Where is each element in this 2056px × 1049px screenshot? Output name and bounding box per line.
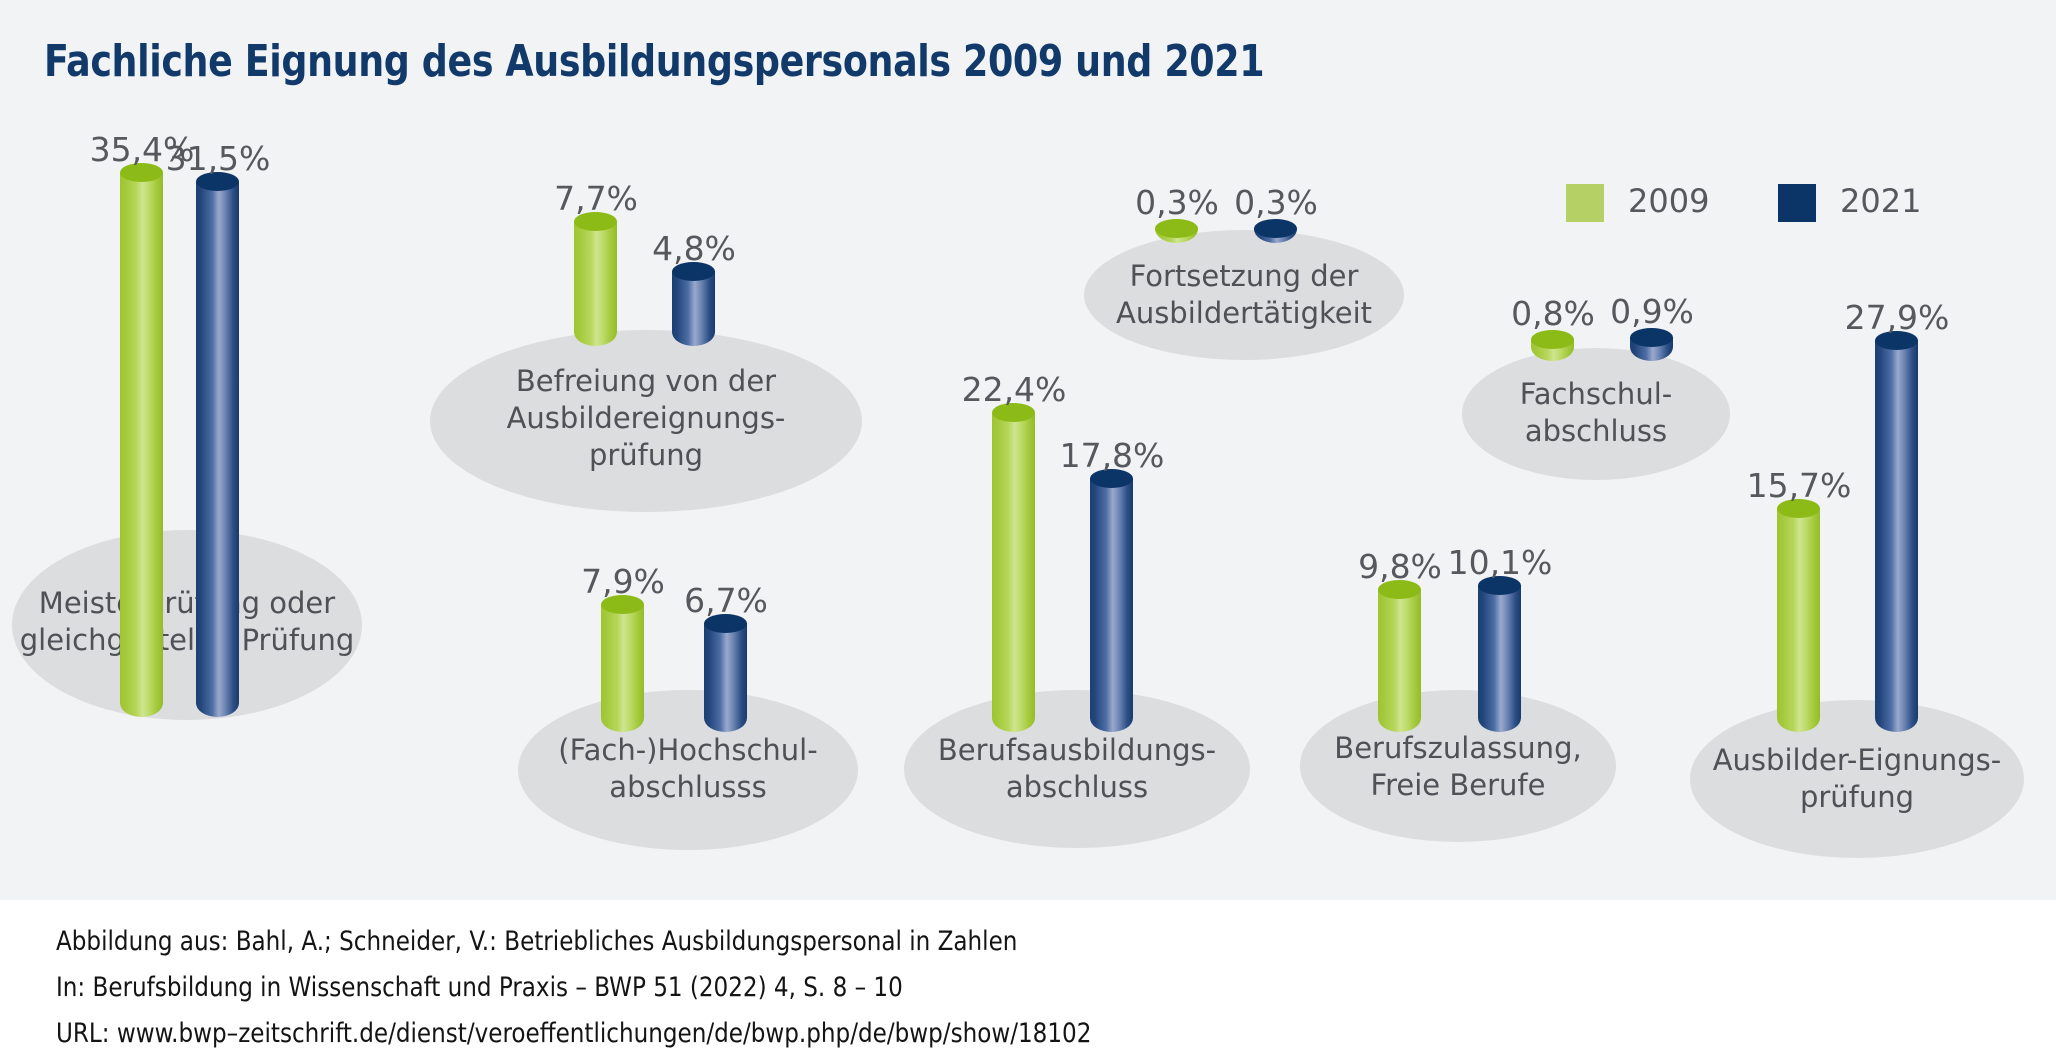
group-label: (Fach-)Hochschul- abschlusss	[518, 732, 858, 806]
bar-fachschul-2009[interactable]	[1531, 339, 1574, 361]
bar-fortsetzung-2009[interactable]	[1155, 228, 1198, 243]
bar-body	[1378, 589, 1421, 732]
group-label: Fortsetzung der Ausbildertätigkeit	[1084, 258, 1404, 332]
value-label-meisterpruefung-2021: 31,5%	[118, 142, 318, 175]
page-title: Fachliche Eignung des Ausbildungspersona…	[44, 36, 1264, 87]
chart-panel: Fachliche Eignung des Ausbildungspersona…	[0, 0, 2056, 900]
bar-meisterpruefung-2009[interactable]	[120, 172, 163, 717]
legend-swatch-2009	[1566, 184, 1604, 222]
legend-label-2021: 2021	[1840, 182, 1921, 220]
value-label-fortsetzung-2021: 0,3%	[1176, 186, 1376, 219]
group-label: Berufsausbildungs- abschluss	[904, 732, 1250, 806]
bar-body	[601, 604, 644, 732]
value-label-berufszulassung-2021: 10,1%	[1400, 546, 1600, 579]
bar-fortsetzung-2021[interactable]	[1254, 228, 1297, 243]
group-berufszulassung: Berufszulassung, Freie Berufe	[1300, 690, 1616, 842]
value-label-fachschul-2021: 0,9%	[1552, 295, 1752, 328]
bar-befreiung-2021[interactable]	[672, 271, 715, 346]
chart-legend: 2009 2021	[1566, 182, 2006, 226]
source-line-1: Abbildung aus: Bahl, A.; Schneider, V.: …	[56, 928, 1017, 955]
bar-body	[1478, 585, 1521, 732]
source-line-3[interactable]: URL: www.bwp–zeitschrift.de/dienst/veroe…	[56, 1020, 1091, 1047]
bar-body	[1875, 340, 1918, 732]
value-label-befreiung-2009: 7,7%	[496, 182, 696, 215]
bar-body	[1777, 508, 1820, 732]
group-label: Ausbilder-Eignungs- prüfung	[1690, 742, 2024, 816]
legend-label-2009: 2009	[1628, 182, 1709, 220]
bar-fachschul-2021[interactable]	[1630, 337, 1673, 361]
group-label: Fachschul- abschluss	[1462, 376, 1730, 450]
group-label: Berufszulassung, Freie Berufe	[1300, 730, 1616, 804]
chart-page: Fachliche Eignung des Ausbildungspersona…	[0, 0, 2056, 1038]
source-footer: Abbildung aus: Bahl, A.; Schneider, V.: …	[0, 900, 2056, 1038]
group-label: Befreiung von der Ausbildereignungs- prü…	[430, 363, 862, 474]
value-label-ausbilder-2021: 27,9%	[1797, 301, 1997, 334]
bar-berufsausbildung-2021[interactable]	[1090, 478, 1133, 732]
bar-berufszulassung-2021[interactable]	[1478, 585, 1521, 732]
group-hochschul: (Fach-)Hochschul- abschlusss	[518, 690, 858, 850]
value-label-befreiung-2021: 4,8%	[594, 232, 794, 265]
bar-body	[120, 172, 163, 717]
bar-ausbilder-2009[interactable]	[1777, 508, 1820, 732]
group-berufsausbildung: Berufsausbildungs- abschluss	[904, 690, 1250, 848]
value-label-berufsausbildung-2021: 17,8%	[1012, 439, 1212, 472]
bar-berufszulassung-2009[interactable]	[1378, 589, 1421, 732]
group-ausbilder: Ausbilder-Eignungs- prüfung	[1690, 700, 2024, 858]
group-fortsetzung: Fortsetzung der Ausbildertätigkeit	[1084, 230, 1404, 360]
bar-body	[1090, 478, 1133, 732]
group-label: Meisterprüfung oder gleichgestellte Prüf…	[12, 585, 362, 659]
legend-swatch-2021	[1778, 184, 1816, 222]
value-label-berufsausbildung-2009: 22,4%	[914, 373, 1114, 406]
bar-body	[704, 623, 747, 732]
bar-hochschul-2009[interactable]	[601, 604, 644, 732]
group-fachschul: Fachschul- abschluss	[1462, 348, 1730, 480]
bar-body	[196, 181, 239, 717]
group-befreiung: Befreiung von der Ausbildereignungs- prü…	[430, 330, 862, 512]
bar-body	[672, 271, 715, 346]
bar-hochschul-2021[interactable]	[704, 623, 747, 732]
bar-meisterpruefung-2021[interactable]	[196, 181, 239, 717]
value-label-ausbilder-2009: 15,7%	[1699, 469, 1899, 502]
source-line-2: In: Berufsbildung in Wissenschaft und Pr…	[56, 974, 903, 1001]
group-meisterpruefung: Meisterprüfung oder gleichgestellte Prüf…	[12, 530, 362, 720]
bar-ausbilder-2021[interactable]	[1875, 340, 1918, 732]
value-label-hochschul-2021: 6,7%	[626, 584, 826, 617]
